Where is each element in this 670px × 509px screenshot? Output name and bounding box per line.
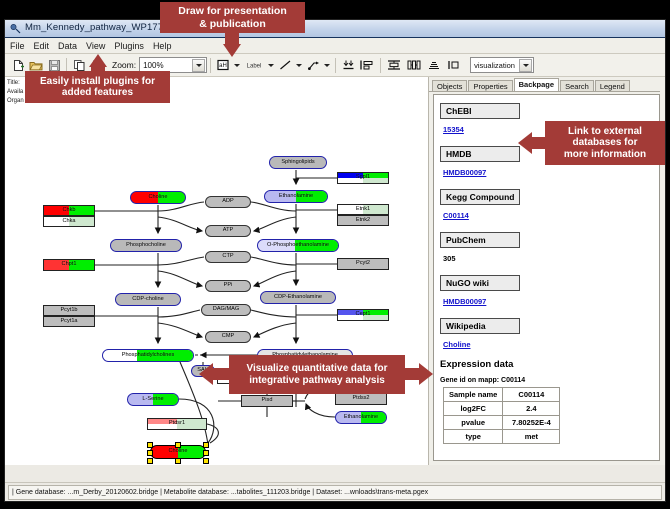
- pathway-connections: [5, 77, 428, 465]
- callout-draw: Draw for presentation & publication: [160, 2, 305, 33]
- metabolite-phosphocholine[interactable]: Phosphocholine: [110, 239, 182, 252]
- expression-data-title: Expression data: [440, 359, 659, 370]
- callout-plugins: Easily install plugins for added feature…: [25, 71, 170, 103]
- node-label: Pcyt2: [356, 261, 370, 267]
- section-heading: NuGO wiki: [440, 275, 520, 291]
- metabolite-cdp-choline[interactable]: CDP-choline: [115, 293, 181, 306]
- cell-value: C00114: [503, 388, 560, 402]
- hmdb-link[interactable]: HMDB00097: [443, 168, 486, 177]
- node-label: Choline: [149, 195, 168, 201]
- section-heading: Kegg Compound: [440, 189, 520, 205]
- selection-handle[interactable]: [203, 450, 209, 456]
- tab-legend[interactable]: Legend: [595, 80, 630, 91]
- distribute-vertical-icon[interactable]: [384, 56, 404, 74]
- visualization-combo[interactable]: visualization: [470, 57, 534, 73]
- gene-sgpl1[interactable]: Sgpl1: [337, 172, 389, 184]
- datanode-icon[interactable]: aH: [214, 56, 232, 74]
- status-field: | Gene database: ...m_Derby_20120602.bri…: [8, 485, 662, 500]
- node-label: Ptdss2: [352, 396, 369, 402]
- node-label: Sphingolipids: [281, 160, 314, 166]
- backpage-section-pubchem: PubChem 305: [440, 230, 659, 266]
- section-heading: HMDB: [440, 146, 520, 162]
- selection-handle[interactable]: [147, 458, 153, 464]
- cell-value: met: [503, 430, 560, 444]
- interaction-icon[interactable]: [304, 56, 322, 74]
- callout-line1: Link to external: [568, 126, 642, 137]
- svg-text:aH: aH: [219, 63, 227, 69]
- metabolite-l-serine-left[interactable]: L-Serine: [127, 393, 179, 406]
- align-left-icon[interactable]: [357, 56, 377, 74]
- visualization-chevron-down-icon[interactable]: [519, 59, 532, 72]
- tab-properties[interactable]: Properties: [468, 80, 512, 91]
- selection-handle[interactable]: [147, 442, 153, 448]
- node-label: Pisd: [262, 398, 273, 404]
- callout-visualize-stem-right: [404, 368, 420, 380]
- cell-key: pvalue: [444, 416, 503, 430]
- cell-value: 2.4: [503, 402, 560, 416]
- node-label: Ethanolamine: [279, 194, 313, 200]
- gene-ptdss2[interactable]: Ptdss2: [335, 393, 387, 405]
- zoom-value: 100%: [140, 61, 163, 70]
- gene-pcyt1b[interactable]: Pcyt1b: [43, 305, 95, 316]
- backpage-section-kegg: Kegg Compound C00114: [440, 187, 659, 223]
- node-label: Chpt1: [62, 262, 77, 268]
- node-label: Phosphatidylcholines: [122, 353, 175, 359]
- node-label: L-Serine: [142, 397, 163, 403]
- metabolite-sphingolipids[interactable]: Sphingolipids: [269, 156, 327, 169]
- chevron-down-icon[interactable]: [192, 59, 205, 72]
- gene-chpt1[interactable]: Chpt1: [43, 259, 95, 271]
- node-label: Sgpl1: [356, 175, 370, 181]
- gene-chkb[interactable]: Chkb: [43, 205, 95, 216]
- visualization-value: visualization: [471, 61, 515, 70]
- callout-line2: integrative pathway analysis: [249, 375, 385, 386]
- stack-icon[interactable]: [424, 56, 444, 74]
- callout-visualize: Visualize quantitative data for integrat…: [229, 355, 405, 394]
- datanode-dropdown-icon[interactable]: [232, 60, 242, 71]
- chebi-link[interactable]: 15354: [443, 125, 464, 134]
- pathway-canvas[interactable]: Title: Availa Organ: [5, 77, 429, 465]
- wikipedia-link[interactable]: Choline: [443, 340, 471, 349]
- selection-handle[interactable]: [203, 442, 209, 448]
- metabolite-o-phosphoethanolamine[interactable]: O-Phosphoethanolamine: [257, 239, 339, 252]
- node-label: DAG/MAG: [213, 307, 239, 313]
- gene-pcyt1a[interactable]: Pcyt1a: [43, 316, 95, 327]
- gene-chka[interactable]: Chka: [43, 216, 95, 227]
- metabolite-atp[interactable]: ATP: [205, 225, 251, 237]
- side-panel-tabs: Objects Properties Backpage Search Legen…: [429, 77, 665, 92]
- callout-links: Link to external databases for more info…: [545, 121, 665, 165]
- node-label: Ethanolamine: [344, 415, 378, 421]
- node-label: ADP: [222, 199, 234, 205]
- menu-bar: File Edit Data View Plugins Help: [5, 38, 665, 54]
- cell-key: type: [444, 430, 503, 444]
- pubchem-value: 305: [443, 254, 456, 263]
- metabolite-dag-mag[interactable]: DAG/MAG: [201, 304, 251, 316]
- selection-handle[interactable]: [203, 458, 209, 464]
- cell-value: 7.80252E-4: [503, 416, 560, 430]
- callout-visualize-stem-left: [212, 368, 230, 380]
- nugo-link[interactable]: HMDB00097: [443, 297, 486, 306]
- selection-handle[interactable]: [175, 458, 181, 464]
- app-icon: [10, 23, 21, 34]
- cell-key: log2FC: [444, 402, 503, 416]
- node-label: Pcyt1a: [60, 319, 77, 325]
- svg-text:Label: Label: [247, 64, 262, 70]
- menu-item-help[interactable]: Help: [153, 41, 172, 51]
- line-dropdown-icon[interactable]: [294, 60, 304, 71]
- menu-item-file[interactable]: File: [10, 41, 25, 51]
- node-label: Pcyt1b: [60, 308, 77, 314]
- expression-gene-id: Gene id on mapp: C00114: [440, 377, 659, 384]
- node-label: Phosphocholine: [126, 243, 166, 249]
- menu-item-edit[interactable]: Edit: [34, 41, 50, 51]
- table-row: log2FC 2.4: [444, 402, 560, 416]
- node-label: Etnk2: [356, 218, 370, 224]
- order-icon[interactable]: [444, 56, 464, 74]
- metabolite-adp[interactable]: ADP: [205, 196, 251, 208]
- metabolite-phosphatidylcholines[interactable]: Phosphatidylcholines: [102, 349, 194, 362]
- table-row: type met: [444, 430, 560, 444]
- gene-etnk1[interactable]: Etnk1: [337, 204, 389, 215]
- tab-search[interactable]: Search: [560, 80, 594, 91]
- metabolite-cmp[interactable]: CMP: [205, 331, 251, 343]
- node-label: Choline: [169, 449, 188, 455]
- callout-line1: Easily install plugins for: [40, 76, 155, 87]
- callout-line2: & publication: [199, 18, 266, 30]
- node-label: CDP-Ethanolamine: [274, 295, 322, 301]
- callout-visualize-arrow-right: [419, 363, 433, 385]
- section-heading: Wikipedia: [440, 318, 520, 334]
- align-bottom-icon[interactable]: [339, 56, 357, 74]
- callout-draw-arrow: [223, 44, 241, 57]
- callout-line1: Draw for presentation: [178, 5, 287, 17]
- metabolite-cdp-ethanolamine[interactable]: CDP-Ethanolamine: [260, 291, 336, 304]
- selection-handle[interactable]: [175, 442, 181, 448]
- zoom-label: Zoom:: [112, 60, 136, 70]
- backpage-section-nugo: NuGO wiki HMDB00097: [440, 273, 659, 309]
- gene-ptdsr1[interactable]: Ptdsr1: [147, 418, 207, 430]
- node-label: ATP: [223, 228, 233, 234]
- status-bar: | Gene database: ...m_Derby_20120602.bri…: [5, 482, 665, 501]
- interaction-dropdown-icon[interactable]: [322, 60, 332, 71]
- gene-etnk2[interactable]: Etnk2: [337, 215, 389, 226]
- node-label: CMP: [222, 334, 234, 340]
- status-text: | Gene database: ...m_Derby_20120602.bri…: [12, 489, 428, 496]
- node-label: Etnk1: [356, 207, 370, 213]
- callout-line1: Visualize quantitative data for: [247, 363, 388, 374]
- callout-line2: added features: [62, 87, 133, 98]
- metabolite-ethanolamine-bottom[interactable]: Ethanolamine: [335, 411, 387, 424]
- node-label: Chka: [62, 219, 75, 225]
- callout-line2: databases for: [572, 137, 637, 148]
- cell-key: Sample name: [444, 388, 503, 402]
- callout-visualize-arrow-left: [199, 363, 213, 385]
- callout-plugins-arrow: [89, 54, 107, 67]
- tab-objects[interactable]: Objects: [432, 80, 467, 91]
- section-heading: ChEBI: [440, 103, 520, 119]
- table-row: pvalue 7.80252E-4: [444, 416, 560, 430]
- title-bar: Mm_Kennedy_pathway_WP1771_45176.gpml: [5, 20, 665, 38]
- metabolite-ctp[interactable]: CTP: [205, 251, 251, 263]
- menu-item-view[interactable]: View: [86, 41, 105, 51]
- node-label: Cept1: [356, 312, 371, 318]
- line-icon[interactable]: [276, 56, 294, 74]
- node-label: CTP: [222, 254, 233, 260]
- distribute-horizontal-icon[interactable]: [404, 56, 424, 74]
- selection-handle[interactable]: [147, 450, 153, 456]
- metabolite-ethanolamine[interactable]: Ethanolamine: [264, 190, 328, 203]
- menu-item-data[interactable]: Data: [58, 41, 77, 51]
- callout-links-arrow: [518, 132, 532, 154]
- node-label: PPi: [224, 283, 233, 289]
- node-label: CDP-choline: [132, 297, 163, 303]
- node-label: Ptdsr1: [169, 421, 185, 427]
- menu-item-plugins[interactable]: Plugins: [114, 41, 144, 51]
- table-row: Sample name C00114: [444, 388, 560, 402]
- node-label: O-Phosphoethanolamine: [267, 243, 329, 249]
- gene-pisd[interactable]: Pisd: [241, 395, 293, 407]
- backpage-section-wikipedia: Wikipedia Choline: [440, 316, 659, 352]
- section-heading: PubChem: [440, 232, 520, 248]
- kegg-link[interactable]: C00114: [443, 211, 469, 220]
- label-dropdown-icon[interactable]: [266, 60, 276, 71]
- metabolite-choline-top[interactable]: Choline: [130, 191, 186, 204]
- expression-table: Sample name C00114 log2FC 2.4 pvalue 7.8…: [443, 387, 560, 444]
- callout-line3: more information: [564, 149, 646, 160]
- gene-pcyt2[interactable]: Pcyt2: [337, 258, 389, 270]
- tab-backpage[interactable]: Backpage: [514, 78, 559, 91]
- metabolite-ppi[interactable]: PPi: [205, 280, 251, 292]
- node-label: Chkb: [62, 208, 75, 214]
- label-icon[interactable]: Label: [242, 56, 266, 74]
- gene-cept1[interactable]: Cept1: [337, 309, 389, 321]
